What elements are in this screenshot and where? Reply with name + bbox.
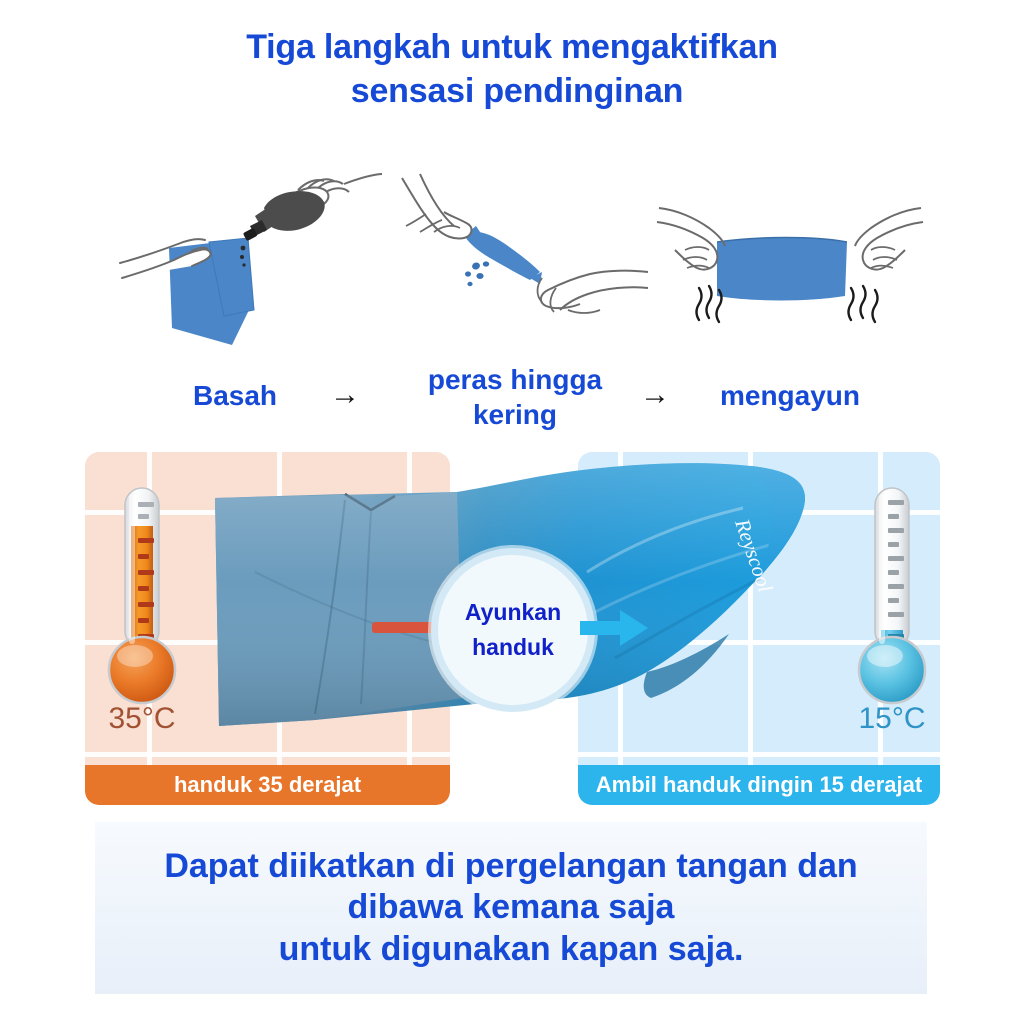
footer-line-3: untuk digunakan kapan saja. — [279, 929, 744, 970]
footer-line-2: dibawa kemana saja — [348, 887, 675, 928]
thermometer-warm-icon — [105, 482, 179, 712]
steps-illustrations — [0, 160, 1024, 350]
warm-temperature-value: 35°C — [82, 702, 202, 736]
step-label-wring: peras hingga kering — [400, 362, 630, 432]
shake-towel-icon — [655, 160, 925, 350]
page-title-line-1: Tiga langkah untuk mengaktifkan — [0, 26, 1024, 70]
warm-badge: handuk 35 derajat — [85, 765, 450, 805]
warm-indicator-bar — [372, 622, 434, 633]
footer-caption: Dapat diikatkan di pergelangan tangan da… — [95, 822, 927, 994]
steps-labels: Basah → peras hingga kering → mengayun — [0, 362, 1024, 442]
wring-towel-icon — [390, 160, 660, 350]
cool-direction-arrow-icon — [580, 608, 650, 648]
step-arrow-2: → — [640, 380, 670, 410]
thermometer-cool-icon — [855, 482, 929, 712]
page-title-line-2: sensasi pendinginan — [0, 70, 1024, 114]
pour-water-on-towel-icon — [112, 160, 382, 350]
cool-badge: Ambil handuk dingin 15 derajat — [578, 765, 940, 805]
step-arrow-1: → — [330, 380, 360, 410]
footer-line-1: Dapat diikatkan di pergelangan tangan da… — [164, 846, 857, 887]
swing-towel-callout: Ayunkan handuk — [431, 548, 595, 712]
cool-temperature-value: 15°C — [832, 702, 952, 736]
step-label-swing: mengayun — [670, 378, 910, 413]
callout-line-1: Ayunkan — [465, 601, 561, 624]
callout-line-2: handuk — [472, 636, 554, 659]
step-label-wet: Basah — [150, 378, 320, 413]
infographic-root: Tiga langkah untuk mengaktifkan sensasi … — [0, 0, 1024, 1024]
page-title: Tiga langkah untuk mengaktifkan sensasi … — [0, 26, 1024, 113]
